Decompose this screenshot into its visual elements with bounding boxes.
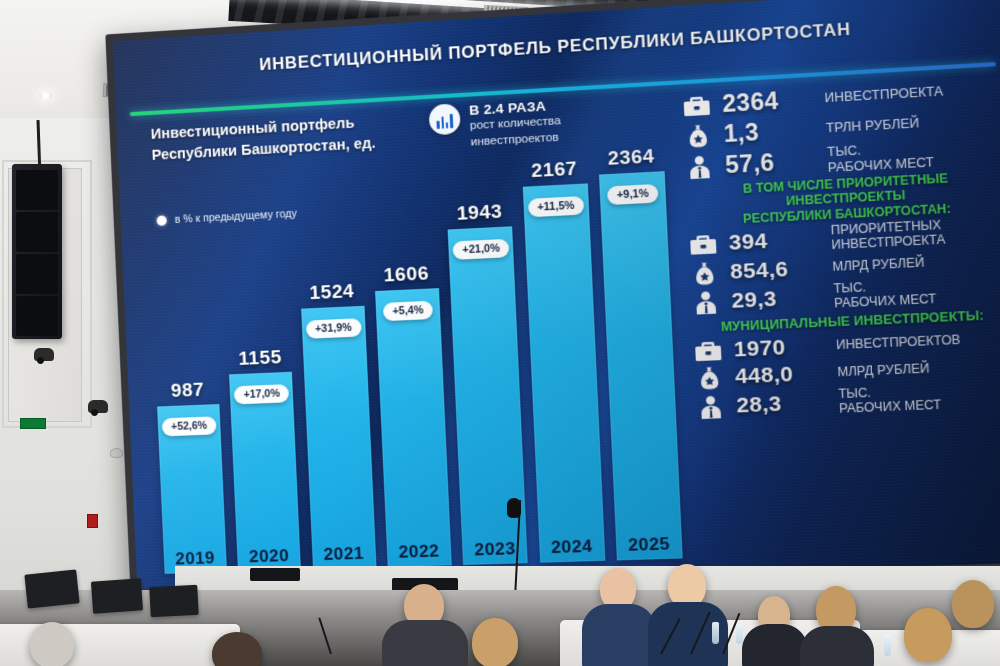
- bar: +52,6%2019: [157, 404, 227, 574]
- stat-number: 448,0: [735, 361, 829, 390]
- briefcase-icon: [692, 339, 725, 363]
- person-head: [212, 632, 262, 666]
- bar-year-label: 2025: [616, 534, 683, 557]
- stat-number: 28,3: [736, 390, 830, 419]
- stat-number: 2364: [722, 85, 816, 118]
- laptop: [91, 578, 143, 613]
- growth-callout-text: В 2.4 РАЗА рост количества инвестпроекто…: [469, 98, 562, 152]
- person-body: [800, 626, 874, 666]
- stat-number: 854,6: [730, 256, 824, 285]
- laptop: [24, 569, 79, 608]
- stats-group-municipal: 1970ИНВЕСТПРОЕКТОВ448,0МЛРД РУБЛЕЙ28,3ТЫ…: [692, 326, 1000, 422]
- person-head: [472, 618, 518, 666]
- bar-value-label: 2364: [607, 146, 654, 171]
- stat-label: ТРЛН РУБЛЕЙ: [826, 116, 920, 136]
- stats-group-priority: 394ПРИОРИТЕТНЫХИНВЕСТПРОЕКТА854,6МЛРД РУ…: [687, 215, 1000, 317]
- screenshot-stage: ИНВЕСТИЦИОННЫЙ ПОРТФЕЛЬ РЕСПУБЛИКИ БАШКО…: [0, 0, 1000, 666]
- worker-icon: [689, 289, 722, 315]
- stat-label: ТЫС.РАБОЧИХ МЕСТ: [827, 139, 935, 175]
- bar-percent-badge: +11,5%: [528, 196, 585, 217]
- stat-label-line1: МЛРД РУБЛЕЙ: [837, 362, 930, 380]
- bar-percent-badge: +21,0%: [453, 239, 510, 260]
- exit-sign: [20, 418, 46, 429]
- security-camera: [88, 400, 108, 413]
- bar-year-label: 2024: [539, 536, 605, 559]
- bar-chart: 987+52,6%20191155+17,0%20201524+31,9%202…: [141, 145, 690, 574]
- stat-label-line1: ИНВЕСТПРОЕКТА: [824, 84, 943, 106]
- bar-year-label: 2021: [312, 543, 376, 565]
- briefcase-icon: [680, 93, 713, 118]
- audience-area: [0, 590, 1000, 666]
- water-bottle: [884, 634, 891, 656]
- stat-label-line2: РАБОЧИХ МЕСТ: [839, 398, 942, 416]
- bar: +31,9%2021: [301, 306, 376, 570]
- bar-year-label: 2022: [387, 541, 452, 563]
- microphone-stand: [318, 618, 332, 655]
- person-body: [382, 620, 468, 666]
- chart-panel: Инвестиционный портфель Республики Башко…: [132, 95, 689, 582]
- stat-label: ТЫС.РАБОЧИХ МЕСТ: [833, 278, 936, 312]
- stats-group-total: 2364ИНВЕСТПРОЕКТА1,3ТРЛН РУБЛЕЙ57,6ТЫС.Р…: [680, 74, 1000, 182]
- stat-label-line2: РАБОЧИХ МЕСТ: [834, 292, 937, 311]
- stat-label: ИНВЕСТПРОЕКТОВ: [836, 333, 961, 353]
- table-microphone: [507, 498, 521, 518]
- bar-column: 1524+31,9%2021: [294, 162, 376, 570]
- stat-label-line1: ТРЛН РУБЛЕЙ: [826, 116, 920, 136]
- bar-percent-badge: +17,0%: [234, 384, 289, 404]
- sensor-dome: [110, 448, 123, 458]
- bar-value-label: 1524: [309, 281, 355, 305]
- stat-label: МЛРД РУБЛЕЙ: [832, 256, 924, 275]
- stat-label: ПРИОРИТЕТНЫХИНВЕСТПРОЕКТА: [830, 219, 945, 254]
- bar-chart-icon: [428, 103, 460, 135]
- bar: +9,1%2025: [599, 171, 683, 560]
- person-head: [30, 622, 74, 666]
- bar: +17,0%2020: [229, 372, 301, 571]
- bar: +5,4%2022: [375, 288, 452, 567]
- bar-percent-badge: +31,9%: [305, 318, 361, 339]
- person-head: [952, 580, 994, 628]
- growth-callout: В 2.4 РАЗА рост количества инвестпроекто…: [428, 92, 650, 153]
- line-array-speaker: [12, 164, 62, 339]
- person-body: [582, 604, 656, 666]
- person-head: [904, 608, 952, 662]
- downlight: [39, 92, 52, 100]
- person-body: [742, 624, 808, 666]
- money-bag-icon: [693, 365, 726, 391]
- money-bag-icon: [688, 261, 721, 287]
- bar-year-label: 2020: [237, 546, 301, 568]
- bar-column: 2167+11,5%2024: [521, 150, 605, 563]
- wall-slot: [250, 568, 300, 581]
- money-bag-icon: [682, 122, 715, 149]
- bar: +11,5%2024: [522, 184, 605, 563]
- bar-percent-badge: +52,6%: [162, 416, 217, 436]
- worker-icon: [694, 394, 727, 420]
- fire-alarm-call-point: [87, 514, 98, 528]
- bar-percent-badge: +9,1%: [607, 184, 659, 205]
- presentation-slide: ИНВЕСТИЦИОННЫЙ ПОРТФЕЛЬ РЕСПУБЛИКИ БАШКО…: [113, 0, 1000, 589]
- statistics-panel: 2364ИНВЕСТПРОЕКТА1,3ТРЛН РУБЛЕЙ57,6ТЫС.Р…: [680, 74, 1000, 566]
- led-video-wall: ИНВЕСТИЦИОННЫЙ ПОРТФЕЛЬ РЕСПУБЛИКИ БАШКО…: [105, 0, 1000, 596]
- bar-value-label: 1943: [456, 201, 503, 226]
- bar-column: 987+52,6%2019: [147, 170, 227, 574]
- stat-number: 57,6: [725, 146, 819, 179]
- chart-title: Инвестиционный портфель Республики Башко…: [150, 112, 376, 166]
- bar-percent-badge: +5,4%: [383, 301, 433, 322]
- water-bottle: [736, 624, 743, 644]
- bar-value-label: 1155: [238, 347, 282, 371]
- water-bottle: [712, 622, 719, 644]
- briefcase-icon: [687, 233, 720, 257]
- stat-label-line1: ИНВЕСТПРОЕКТОВ: [836, 333, 961, 353]
- stat-number: 1,3: [723, 115, 817, 148]
- stat-label: ИНВЕСТПРОЕКТА: [824, 84, 943, 106]
- bar-chart-columns: 987+52,6%20191155+17,0%20201524+31,9%202…: [141, 145, 690, 574]
- stat-number: 394: [728, 227, 822, 256]
- stat-number: 29,3: [731, 285, 825, 314]
- laptop: [149, 585, 199, 617]
- bar-column: 2364+9,1%2025: [598, 145, 683, 560]
- stat-label: ТЫС.РАБОЧИХ МЕСТ: [838, 383, 941, 416]
- stat-number: 1970: [733, 334, 827, 363]
- security-camera: [34, 348, 54, 361]
- worker-icon: [683, 153, 716, 179]
- bar-value-label: 2167: [531, 158, 578, 183]
- bar-value-label: 1606: [383, 263, 429, 287]
- stat-label-line1: МЛРД РУБЛЕЙ: [832, 256, 924, 275]
- bar-column: 1155+17,0%2020: [220, 166, 301, 572]
- stat-label: МЛРД РУБЛЕЙ: [837, 362, 930, 380]
- bar-column: 1606+5,4%2022: [369, 158, 452, 567]
- bar-value-label: 987: [171, 379, 205, 402]
